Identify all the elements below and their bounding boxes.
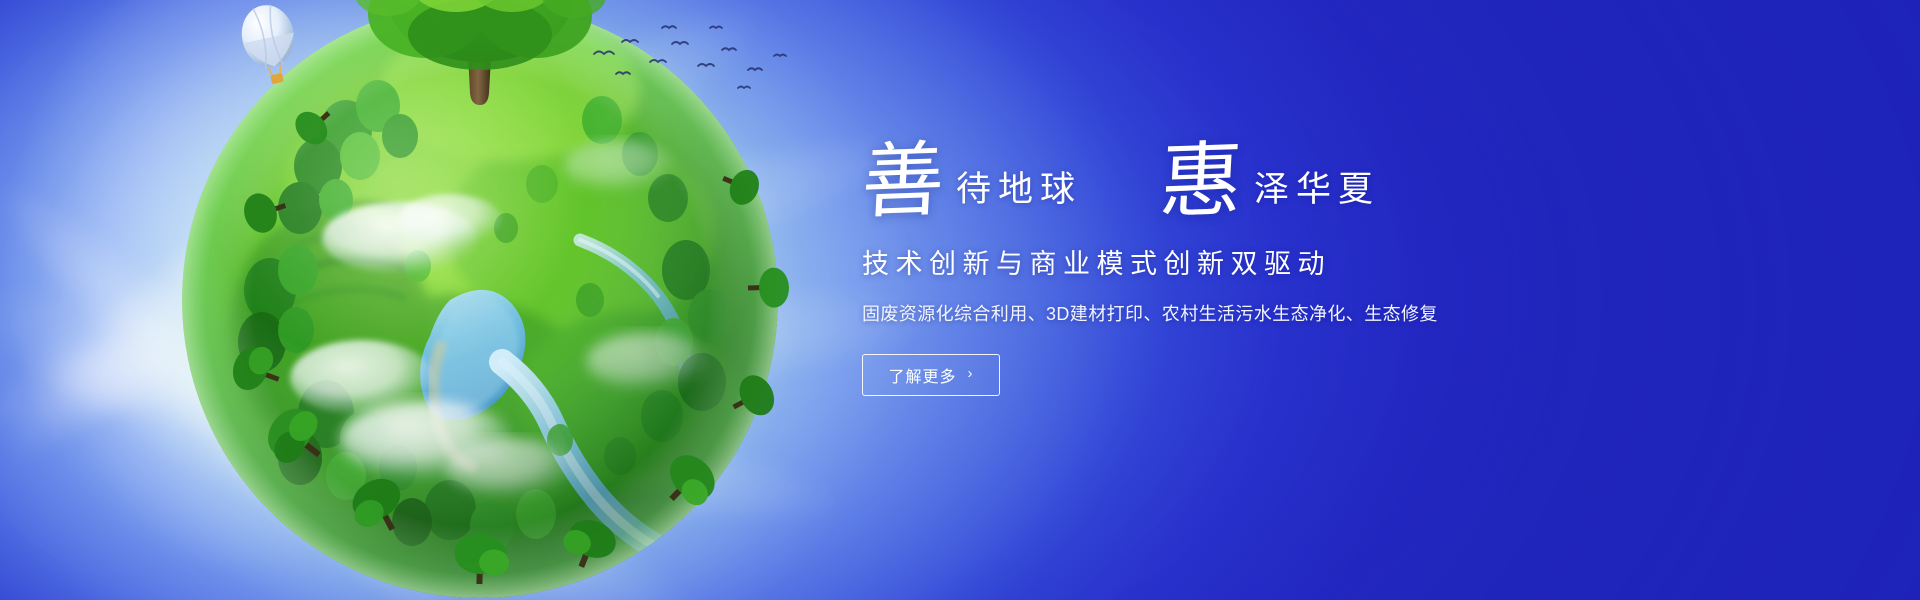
- hero-banner: 善 待地球 惠 泽华夏 技术创新与商业模式创新双驱动 固废资源化综合利用、3D建…: [0, 0, 1920, 600]
- cloud-streak: [0, 0, 791, 501]
- cloud-streak: [0, 233, 722, 600]
- chevron-right-icon: ›: [968, 366, 974, 381]
- cloud-streak: [0, 150, 494, 600]
- rim-trees: [227, 99, 790, 585]
- bird-flock: [594, 26, 786, 88]
- learn-more-label: 了解更多: [888, 363, 956, 387]
- globe-glow: [80, 0, 880, 600]
- hero-tree: [354, 0, 606, 105]
- river: [502, 362, 658, 548]
- globe-grass-fringe: [146, 0, 814, 600]
- description: 固废资源化综合利用、3D建材打印、农村生活污水生态净化、生态修复: [862, 302, 1622, 327]
- terraces: [288, 204, 406, 304]
- hero-text-block: 善 待地球 惠 泽华夏 技术创新与商业模式创新双驱动 固废资源化综合利用、3D建…: [862, 130, 1622, 396]
- lake: [420, 290, 525, 421]
- learn-more-button[interactable]: 了解更多 ›: [862, 354, 1000, 396]
- forest-clusters: [238, 80, 732, 552]
- subtitle: 技术创新与商业模式创新双驱动: [862, 248, 1622, 280]
- globe-surface: [182, 2, 778, 598]
- headline: 善 待地球 惠 泽华夏: [862, 130, 1622, 222]
- surface-clouds: [290, 140, 710, 498]
- headline-kai-text-1: 待地球: [956, 161, 1082, 222]
- headline-kai-text-2: 泽华夏: [1254, 161, 1380, 222]
- little-planet-globe: [150, 0, 810, 600]
- headline-brush-char-1: 善: [860, 142, 946, 224]
- headline-brush-char-2: 惠: [1158, 142, 1244, 224]
- hot-air-balloon: [236, 0, 303, 88]
- globe-illustration: [150, 0, 810, 600]
- cloud-streak: [5, 304, 851, 558]
- cloud-streak: [0, 90, 928, 470]
- cloud-streak: [0, 0, 561, 499]
- cloud-streak: [29, 254, 936, 446]
